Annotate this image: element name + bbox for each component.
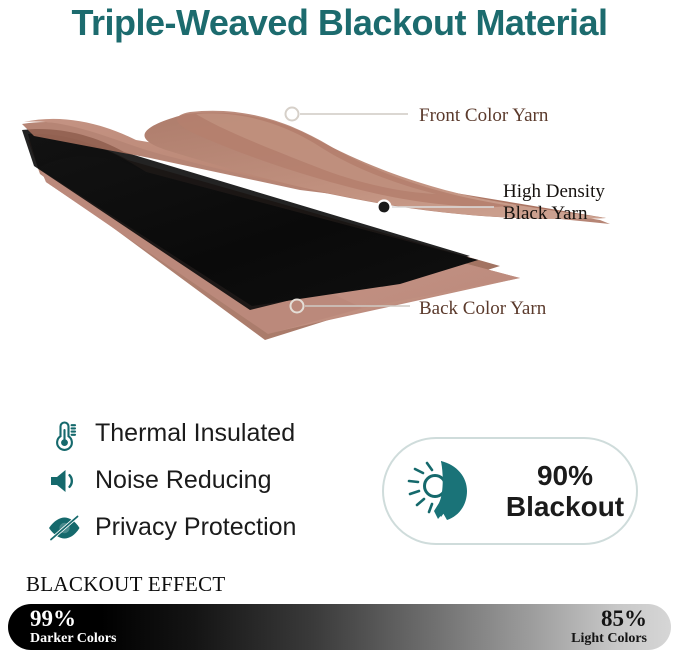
gradient-bar-left-stat: 99% Darker Colors xyxy=(30,604,116,650)
blackout-badge-text: 90% Blackout xyxy=(494,460,636,523)
gradient-bar-right-stat: 85% Light Colors xyxy=(571,604,647,650)
darker-colors-label: Darker Colors xyxy=(30,631,116,647)
feature-label: Privacy Protection xyxy=(95,513,296,542)
callout-label-high-density-black-yarn: High Density Black Yarn xyxy=(503,181,605,225)
thermometer-icon xyxy=(44,415,84,453)
darker-colors-percent: 99% xyxy=(30,607,76,630)
blackout-badge: 90% Blackout xyxy=(382,437,638,545)
blackout-percent: 90% xyxy=(537,460,593,491)
feature-item-noise-reducing: Noise Reducing xyxy=(44,457,374,504)
light-colors-percent: 85% xyxy=(601,607,647,630)
callout-line-1: High Density xyxy=(503,181,605,203)
callout-label-back-color-yarn: Back Color Yarn xyxy=(419,298,546,320)
speaker-icon xyxy=(44,462,84,500)
infographic-canvas: Triple-Weaved Blackout Material xyxy=(0,0,679,656)
feature-label: Noise Reducing xyxy=(95,466,272,495)
sun-blocked-by-curtain-icon xyxy=(402,451,488,531)
blackout-effect-gradient-bar: 99% Darker Colors 85% Light Colors xyxy=(8,604,671,650)
blackout-label: Blackout xyxy=(506,491,624,522)
callout-line-2: Black Yarn xyxy=(503,203,605,225)
eye-slash-icon xyxy=(44,509,84,547)
feature-label: Thermal Insulated xyxy=(95,419,295,448)
callout-label-front-color-yarn: Front Color Yarn xyxy=(419,105,548,127)
feature-item-privacy-protection: Privacy Protection xyxy=(44,504,374,551)
page-title: Triple-Weaved Blackout Material xyxy=(0,2,679,44)
feature-list: Thermal Insulated Noise Reducing Pri xyxy=(44,410,374,551)
light-colors-label: Light Colors xyxy=(571,631,647,647)
feature-item-thermal-insulated: Thermal Insulated xyxy=(44,410,374,457)
blackout-effect-heading: BLACKOUT EFFECT xyxy=(26,572,226,597)
